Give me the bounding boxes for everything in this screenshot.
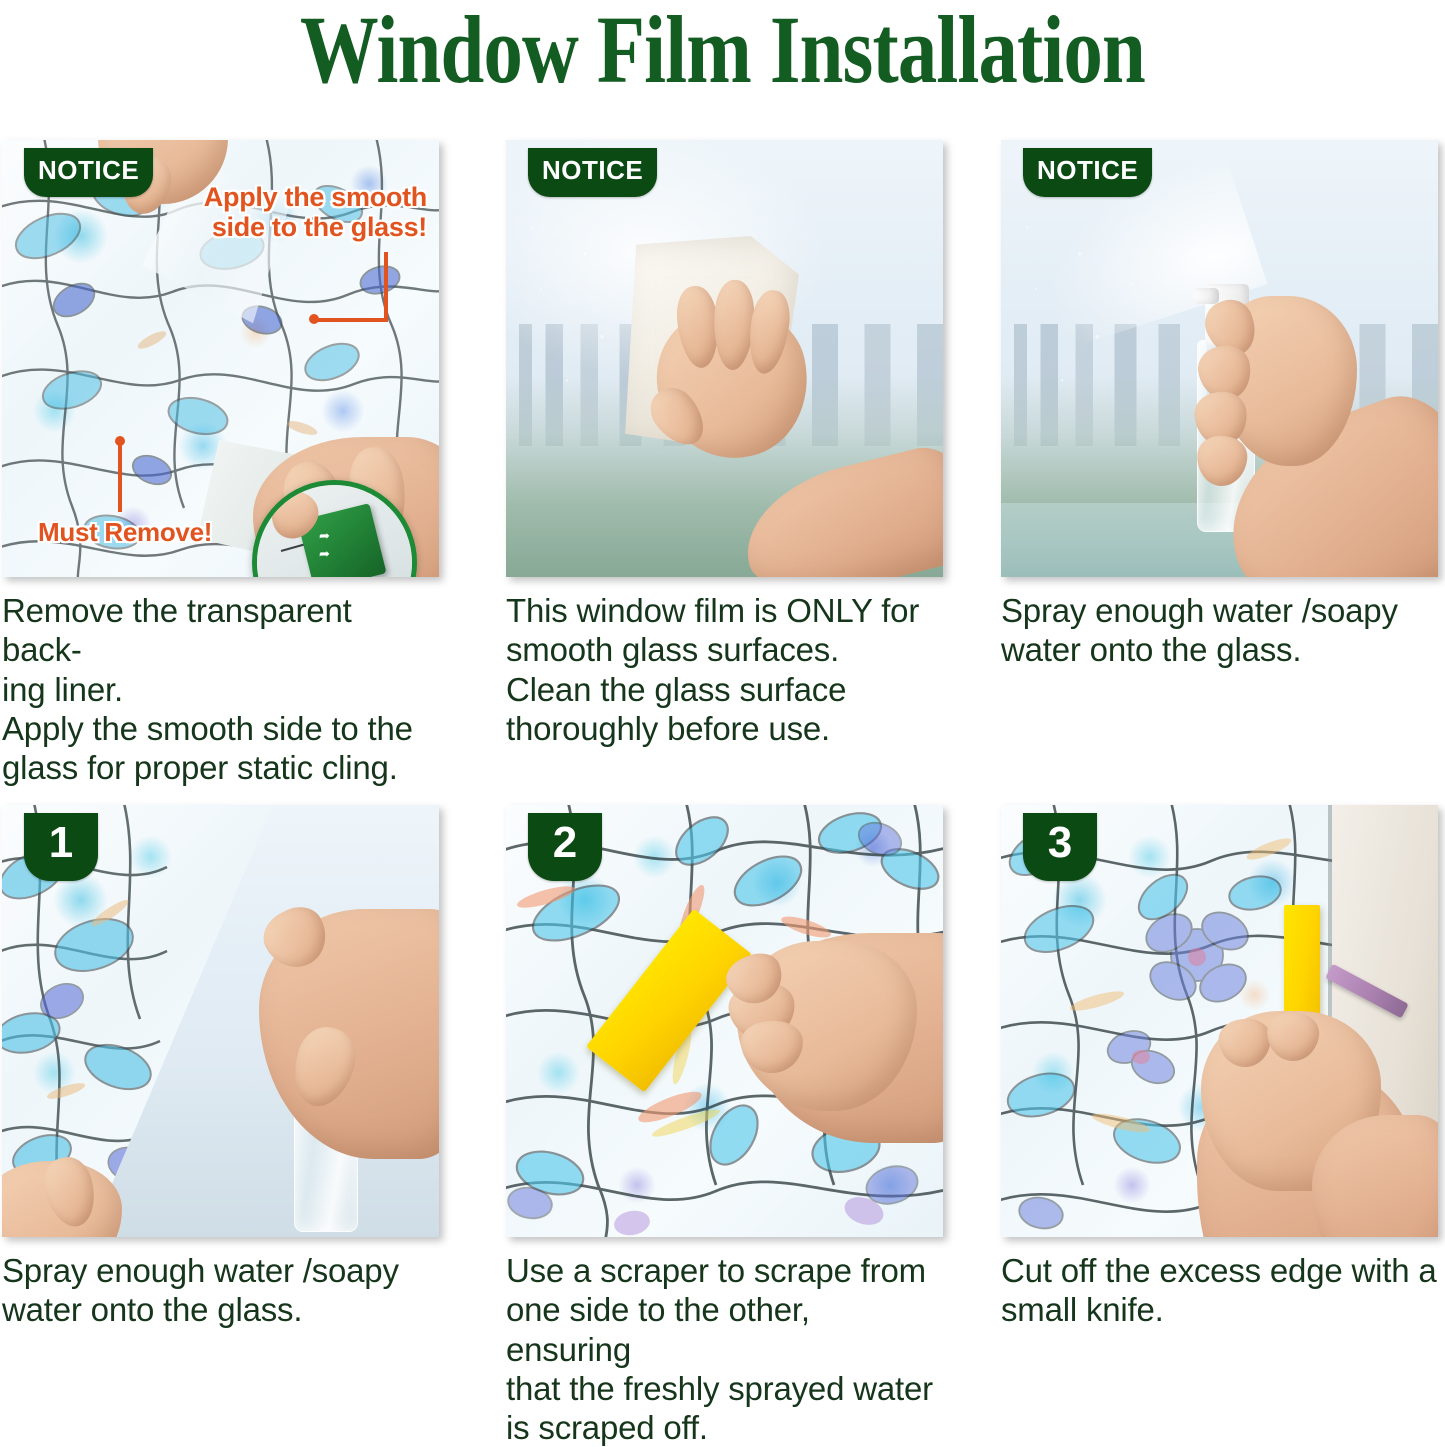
panel-step-1: 1 Spray enough water /soapy water onto t… (2, 805, 439, 1330)
bird-glyph-1: ➦ (319, 529, 330, 542)
photo-remove-liner: ➦ ➦ NOTICE Apply the smooth side to the … (2, 140, 439, 577)
leader-horizontal-apply (314, 318, 388, 322)
step-badge: 3 (1023, 813, 1097, 881)
caption-clean-glass: This window film is ONLY for smooth glas… (506, 591, 943, 748)
spray-bottle-tip (1193, 288, 1219, 304)
caption-remove-liner: Remove the transparent back- ing liner. … (2, 591, 439, 787)
photo-spray-water: NOTICE (1001, 140, 1438, 577)
panel-clean-glass: NOTICE This window film is ONLY for smoo… (506, 140, 943, 748)
caption-step-3: Cut off the excess edge with a small kni… (1001, 1251, 1438, 1330)
magnifier-inset: ➦ ➦ (252, 480, 417, 577)
caption-step-1: Spray enough water /soapy water onto the… (2, 1251, 439, 1330)
panel-step-3: 3 Cut off the excess edge with a small k… (1001, 805, 1438, 1330)
photo-step-1: 1 (2, 805, 439, 1237)
caption-step-2: Use a scraper to scrape from one side to… (506, 1251, 943, 1447)
leader-vertical-apply (384, 252, 388, 322)
panel-spray-water: NOTICE Spray enough water /soapy water o… (1001, 140, 1438, 670)
notice-badge: NOTICE (528, 148, 657, 197)
bird-glyph-2: ➦ (319, 547, 330, 560)
caption-spray-water: Spray enough water /soapy water onto the… (1001, 591, 1438, 670)
annotation-apply-smooth-side: Apply the smooth side to the glass! (204, 182, 427, 242)
leader-dot-must (115, 436, 125, 446)
photo-step-3: 3 (1001, 805, 1438, 1237)
step-badge: 2 (528, 813, 602, 881)
panel-remove-liner: ➦ ➦ NOTICE Apply the smooth side to the … (2, 140, 439, 787)
annotation-must-remove: Must Remove! (38, 518, 212, 547)
leader-dot-apply (309, 314, 319, 324)
notice-badge: NOTICE (24, 148, 153, 197)
page-title: Window Film Installation (130, 0, 1315, 105)
notice-badge: NOTICE (1023, 148, 1152, 197)
step-badge: 1 (24, 813, 98, 881)
photo-step-2: 2 (506, 805, 943, 1237)
infographic-page: Window Film Installation (0, 0, 1445, 1410)
panel-step-2: 2 Use a scraper to scrape from one side … (506, 805, 943, 1447)
photo-clean-glass: NOTICE (506, 140, 943, 577)
leader-vertical-must (118, 440, 122, 512)
